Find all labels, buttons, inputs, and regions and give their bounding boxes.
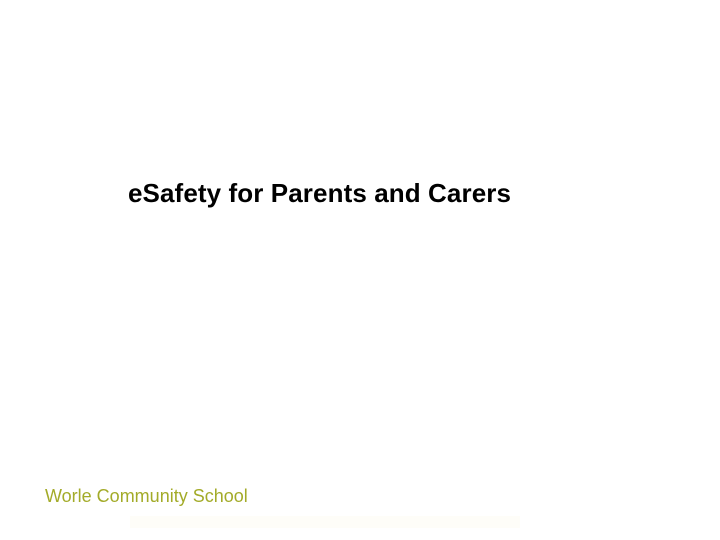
decorative-bottom-band xyxy=(130,516,520,528)
page-title: eSafety for Parents and Carers xyxy=(128,179,511,209)
title-placeholder: eSafety for Parents and Carers xyxy=(128,172,598,216)
organisation-name: Worle Community School xyxy=(45,486,248,508)
presentation-slide: eSafety for Parents and Carers Worle Com… xyxy=(0,0,720,540)
footer-placeholder: Worle Community School xyxy=(45,484,375,510)
